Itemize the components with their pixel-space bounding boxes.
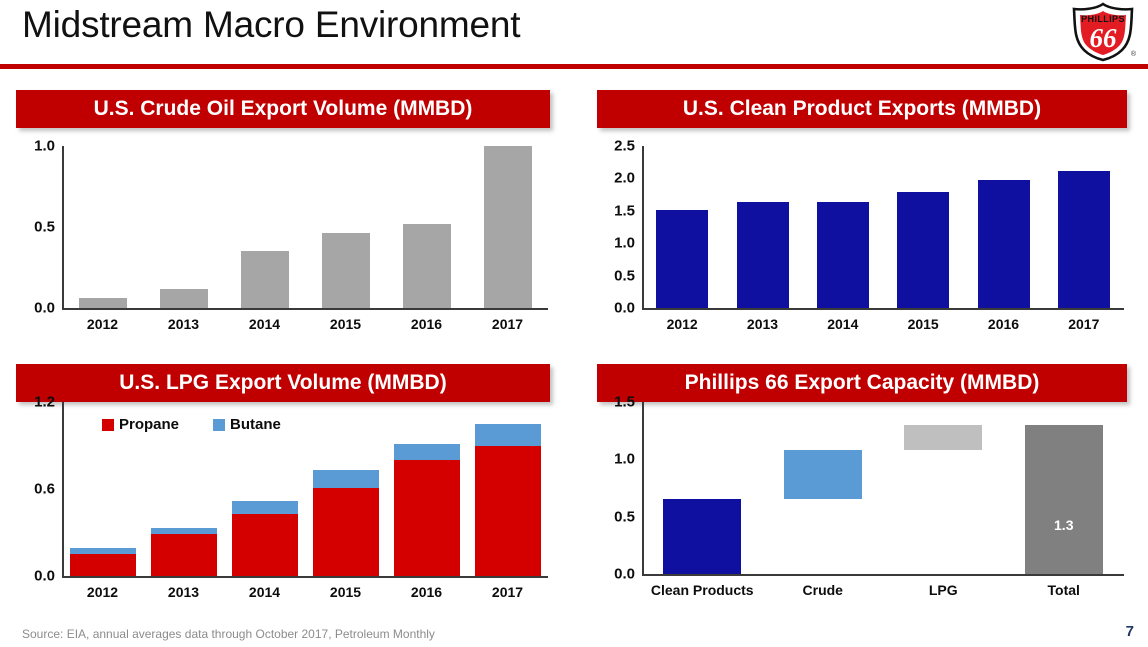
bar-segment-propane xyxy=(70,554,136,576)
bar-segment-butane xyxy=(475,424,541,446)
phillips-66-shield-icon: PHILLIPS 66 xyxy=(1066,2,1140,62)
chart-title: Phillips 66 Export Capacity (MMBD) xyxy=(685,371,1040,395)
y-axis-tick-label: 0.6 xyxy=(14,481,55,498)
x-axis-tick-label: Clean Products xyxy=(642,582,763,598)
y-axis-tick-label: 1.0 xyxy=(590,451,635,468)
y-axis-tick-label: 2.5 xyxy=(590,138,635,155)
chart-panel-lpg-export-volume: U.S. LPG Export Volume (MMBD) 0.00.61.22… xyxy=(0,362,570,622)
legend-item-butane: Butane xyxy=(213,416,281,433)
y-axis-tick-label: 0.5 xyxy=(590,267,635,284)
phillips-66-logo: PHILLIPS 66 ® xyxy=(1066,2,1140,62)
x-axis xyxy=(642,308,1124,310)
legend-item-propane: Propane xyxy=(102,416,179,433)
registered-mark: ® xyxy=(1131,51,1136,58)
bar-2015 xyxy=(897,192,949,308)
chart-panel-p66-export-capacity: Phillips 66 Export Capacity (MMBD) 0.00.… xyxy=(576,362,1148,622)
x-axis xyxy=(62,308,548,310)
x-axis-tick-label: 2015 xyxy=(305,584,386,600)
x-axis xyxy=(642,574,1124,576)
x-axis-tick-label: 2015 xyxy=(883,316,963,332)
chart-title-banner: U.S. Crude Oil Export Volume (MMBD) xyxy=(16,90,550,128)
y-axis-tick-label: 0.0 xyxy=(14,568,55,585)
bar-2013 xyxy=(737,202,789,308)
y-axis-tick-label: 1.5 xyxy=(590,202,635,219)
x-axis-tick-label: 2013 xyxy=(722,316,802,332)
x-axis-tick-label: Crude xyxy=(763,582,884,598)
y-axis xyxy=(642,146,644,309)
svg-text:66: 66 xyxy=(1090,23,1118,53)
bar-2014 xyxy=(241,251,289,308)
x-axis-tick-label: 2014 xyxy=(224,584,305,600)
chart-legend: PropaneButane xyxy=(102,416,281,433)
source-note: Source: EIA, annual averages data throug… xyxy=(22,627,435,641)
y-axis xyxy=(62,146,64,309)
plot-area: 0.00.51.01.5Clean ProductsCrudeLPGTotal1… xyxy=(590,402,1130,616)
chart-title: U.S. Clean Product Exports (MMBD) xyxy=(683,97,1041,121)
x-axis-tick-label: 2015 xyxy=(305,316,386,332)
x-axis-tick-label: 2016 xyxy=(386,316,467,332)
bar-segment-propane xyxy=(313,488,379,576)
y-axis xyxy=(642,402,644,575)
legend-label: Butane xyxy=(230,416,281,433)
legend-label: Propane xyxy=(119,416,179,433)
bar-lpg xyxy=(904,425,982,450)
y-axis-tick-label: 2.0 xyxy=(590,170,635,187)
bar-2017 xyxy=(1058,171,1110,308)
x-axis-tick-label: 2012 xyxy=(62,316,143,332)
chart-title: U.S. LPG Export Volume (MMBD) xyxy=(119,371,446,395)
y-axis-tick-label: 1.0 xyxy=(590,235,635,252)
plot-area: 0.00.51.0201220132014201520162017 xyxy=(14,146,554,346)
bar-crude xyxy=(784,450,862,499)
x-axis-tick-label: Total xyxy=(1004,582,1125,598)
x-axis-tick-label: 2012 xyxy=(642,316,722,332)
page-title: Midstream Macro Environment xyxy=(22,4,520,46)
bar-2013 xyxy=(160,289,208,308)
bar-value-label: 1.3 xyxy=(1025,517,1103,533)
y-axis-tick-label: 0.5 xyxy=(14,219,55,236)
x-axis-tick-label: 2014 xyxy=(224,316,305,332)
bar-segment-butane xyxy=(232,501,298,514)
plot-area: 0.00.61.2201220132014201520162017Propane… xyxy=(14,402,554,616)
y-axis-tick-label: 0.0 xyxy=(590,300,635,317)
bar-segment-propane xyxy=(475,446,541,577)
y-axis-tick-label: 0.0 xyxy=(590,566,635,583)
bar-2016 xyxy=(978,180,1030,308)
x-axis-tick-label: 2016 xyxy=(386,584,467,600)
bar-segment-butane xyxy=(151,528,217,534)
y-axis-tick-label: 1.0 xyxy=(14,138,55,155)
bar-segment-propane xyxy=(232,514,298,576)
bar-segment-butane xyxy=(313,470,379,487)
y-axis-tick-label: 1.2 xyxy=(14,394,55,411)
x-axis-tick-label: 2013 xyxy=(143,316,224,332)
bar-2017 xyxy=(484,146,532,308)
x-axis-tick-label: 2012 xyxy=(62,584,143,600)
bar-2016 xyxy=(403,224,451,308)
bar-segment-propane xyxy=(151,534,217,576)
chart-title-banner: U.S. LPG Export Volume (MMBD) xyxy=(16,364,550,402)
bar-2014 xyxy=(817,202,869,308)
x-axis-tick-label: 2013 xyxy=(143,584,224,600)
x-axis-tick-label: 2017 xyxy=(467,584,548,600)
bar-2012 xyxy=(656,210,708,308)
page-number: 7 xyxy=(1126,623,1134,640)
bar-2015 xyxy=(322,233,370,308)
y-axis-tick-label: 0.5 xyxy=(590,508,635,525)
bar-clean-products xyxy=(663,499,741,574)
x-axis xyxy=(62,576,548,578)
chart-title: U.S. Crude Oil Export Volume (MMBD) xyxy=(94,97,473,121)
chart-panel-clean-product-exports: U.S. Clean Product Exports (MMBD) 0.00.5… xyxy=(576,88,1148,356)
header-divider xyxy=(0,64,1148,69)
chart-panel-crude-oil-export-volume: U.S. Crude Oil Export Volume (MMBD) 0.00… xyxy=(0,88,570,356)
bar-total xyxy=(1025,425,1103,574)
x-axis-tick-label: LPG xyxy=(883,582,1004,598)
bar-segment-butane xyxy=(70,548,136,554)
y-axis-tick-label: 0.0 xyxy=(14,300,55,317)
plot-area: 0.00.51.01.52.02.52012201320142015201620… xyxy=(590,146,1130,346)
legend-swatch-butane xyxy=(213,419,225,431)
x-axis-tick-label: 2016 xyxy=(963,316,1043,332)
bar-2012 xyxy=(79,298,127,308)
x-axis-tick-label: 2017 xyxy=(467,316,548,332)
y-axis xyxy=(62,402,64,577)
chart-title-banner: U.S. Clean Product Exports (MMBD) xyxy=(597,90,1127,128)
x-axis-tick-label: 2014 xyxy=(803,316,883,332)
chart-title-banner: Phillips 66 Export Capacity (MMBD) xyxy=(597,364,1127,402)
x-axis-tick-label: 2017 xyxy=(1044,316,1124,332)
y-axis-tick-label: 1.5 xyxy=(590,394,635,411)
bar-segment-butane xyxy=(394,444,460,460)
bar-segment-propane xyxy=(394,460,460,576)
legend-swatch-propane xyxy=(102,419,114,431)
